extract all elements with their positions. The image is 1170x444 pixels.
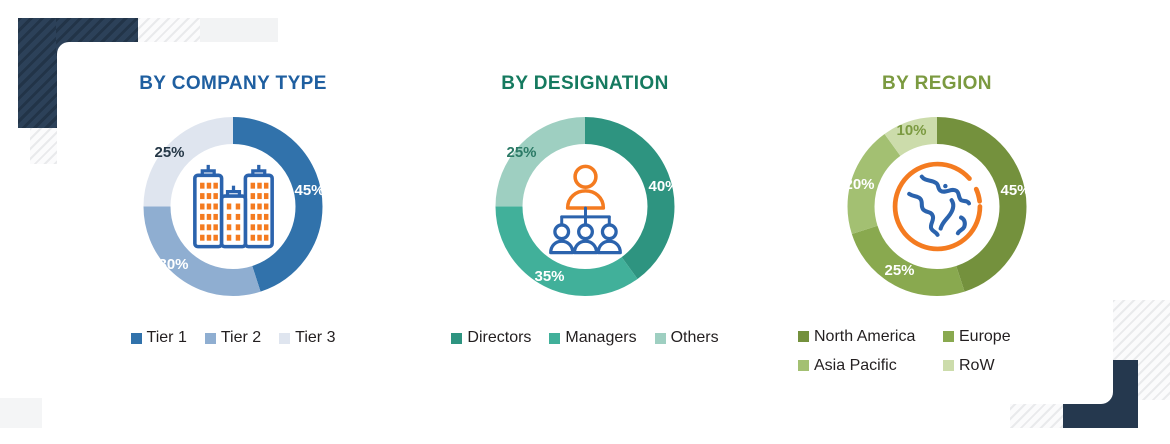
legend-swatch-row [943,360,954,371]
legend-label-europe: Europe [959,322,1011,351]
legend-label-managers: Managers [565,325,636,351]
legend-label-asia-pacific: Asia Pacific [814,351,897,380]
legend-swatch-north-america [798,331,809,342]
legend-label-tier3: Tier 3 [295,325,335,351]
org-chart-people-icon [530,104,640,309]
panel-by-region: BY REGION [761,42,1113,404]
decor-bottom-left-band [0,398,42,428]
globe-icon [882,104,992,309]
donut-wrap-company: 45% 30% 25% [57,104,409,309]
donut-hub-company [178,152,288,262]
legend-label-tier1: Tier 1 [147,325,187,351]
panel-title-company-type: BY COMPANY TYPE [57,73,409,95]
infographic-canvas: BY COMPANY TYPE [0,0,1170,444]
legend-swatch-tier1 [131,333,142,344]
legend-item-europe[interactable]: Europe [943,322,1076,351]
panel-by-designation: BY DESIGNATION [409,42,761,404]
legend-label-tier2: Tier 2 [221,325,261,351]
legend-item-directors[interactable]: Directors [451,325,531,351]
legend-label-others: Others [671,325,719,351]
donut-hub-region [882,152,992,262]
legend-swatch-managers [549,333,560,344]
legend-swatch-tier2 [205,333,216,344]
donut-chart-company-type: 45% 30% 25% [131,104,336,309]
panel-title-designation: BY DESIGNATION [409,73,761,95]
legend-swatch-directors [451,333,462,344]
legend-designation: Directors Managers Others [409,325,761,351]
legend-item-tier2[interactable]: Tier 2 [205,325,261,351]
legend-item-tier1[interactable]: Tier 1 [131,325,187,351]
legend-item-north-america[interactable]: North America [798,322,931,351]
legend-label-directors: Directors [467,325,531,351]
panel-by-company-type: BY COMPANY TYPE [57,42,409,404]
legend-region: North America Europe Asia Pacific RoW [761,322,1113,380]
donut-chart-designation: 40% 35% 25% [483,104,688,309]
panel-title-region: BY REGION [761,73,1113,95]
legend-item-tier3[interactable]: Tier 3 [279,325,335,351]
legend-swatch-europe [943,331,954,342]
legend-item-managers[interactable]: Managers [549,325,636,351]
legend-item-row[interactable]: RoW [943,351,1076,380]
legend-swatch-tier3 [279,333,290,344]
donut-wrap-designation: 40% 35% 25% [409,104,761,309]
legend-item-others[interactable]: Others [655,325,719,351]
office-buildings-icon [178,104,288,309]
legend-swatch-asia-pacific [798,360,809,371]
legend-item-asia-pacific[interactable]: Asia Pacific [798,351,931,380]
legend-swatch-others [655,333,666,344]
donut-hub-designation [530,152,640,262]
legend-company-type: Tier 1 Tier 2 Tier 3 [57,325,409,351]
legend-label-row: RoW [959,351,995,380]
charts-card: BY COMPANY TYPE [57,42,1113,404]
donut-chart-region: 45% 25% 20% 10% [835,104,1040,309]
donut-wrap-region: 45% 25% 20% 10% [761,104,1113,309]
legend-label-north-america: North America [814,322,915,351]
